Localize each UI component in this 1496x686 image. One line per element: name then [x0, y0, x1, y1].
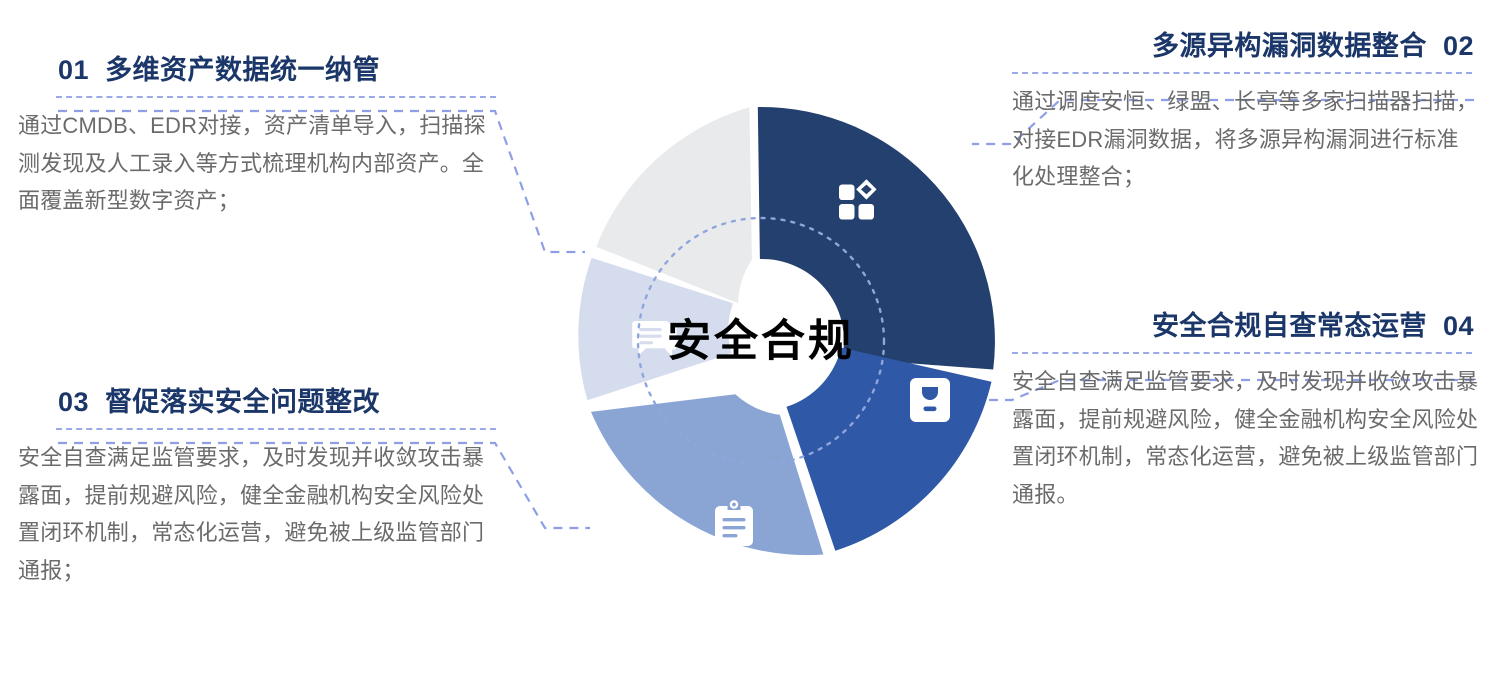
block-03-title: 03 督促落实安全问题整改: [18, 388, 496, 418]
segment-rectify[interactable]: [591, 394, 823, 555]
block-01-heading: 多维资产数据统一纳管: [105, 55, 380, 85]
info-block-03: 03 督促落实安全问题整改 安全自查满足监管要求，及时发现并收敛攻击暴露面，提前…: [18, 388, 496, 590]
diagram-canvas: 安全合规 01 多维资产数据统一纳管 通过CMDB、EDR对接，资产清单导入，扫…: [0, 0, 1496, 686]
info-block-02: 多源异构漏洞数据整合 02 通过调度安恒、绿盟、长亭等多家扫描器扫描，对接EDR…: [1012, 32, 1480, 196]
center-label: 安全合规: [667, 316, 855, 366]
block-02-divider: [1012, 72, 1472, 74]
block-02-title: 多源异构漏洞数据整合 02: [1012, 32, 1480, 62]
block-01-body: 通过CMDB、EDR对接，资产清单导入，扫描探测发现及人工录入等方式梳理机构内部…: [18, 107, 496, 220]
block-02-heading: 多源异构漏洞数据整合: [1152, 31, 1427, 61]
block-04-heading: 安全合规自查常态运营: [1152, 311, 1427, 341]
block-01-number: 01: [58, 55, 89, 85]
block-01-divider: [56, 96, 496, 98]
block-03-number: 03: [58, 387, 89, 417]
info-block-04: 安全合规自查常态运营 04 安全自查满足监管要求，及时发现并收敛攻击暴露面，提前…: [1012, 312, 1480, 514]
segment-operations[interactable]: [787, 348, 992, 551]
block-04-number: 04: [1443, 311, 1474, 341]
block-04-body: 安全自查满足监管要求，及时发现并收敛攻击暴露面，提前规避风险，健全金融机构安全风…: [1012, 363, 1480, 514]
segmented-donut-chart: 安全合规: [510, 50, 1014, 634]
block-01-title: 01 多维资产数据统一纳管: [18, 56, 496, 86]
block-04-title: 安全合规自查常态运营 04: [1012, 312, 1480, 342]
block-03-heading: 督促落实安全问题整改: [105, 387, 380, 417]
info-block-01: 01 多维资产数据统一纳管 通过CMDB、EDR对接，资产清单导入，扫描探测发现…: [18, 56, 496, 220]
block-02-body: 通过调度安恒、绿盟、长亭等多家扫描器扫描，对接EDR漏洞数据，将多源异构漏洞进行…: [1012, 83, 1480, 196]
block-03-divider: [56, 428, 496, 430]
block-02-number: 02: [1443, 31, 1474, 61]
block-04-divider: [1012, 352, 1472, 354]
block-03-body: 安全自查满足监管要求，及时发现并收敛攻击暴露面，提前规避风险，健全金融机构安全风…: [18, 439, 496, 590]
